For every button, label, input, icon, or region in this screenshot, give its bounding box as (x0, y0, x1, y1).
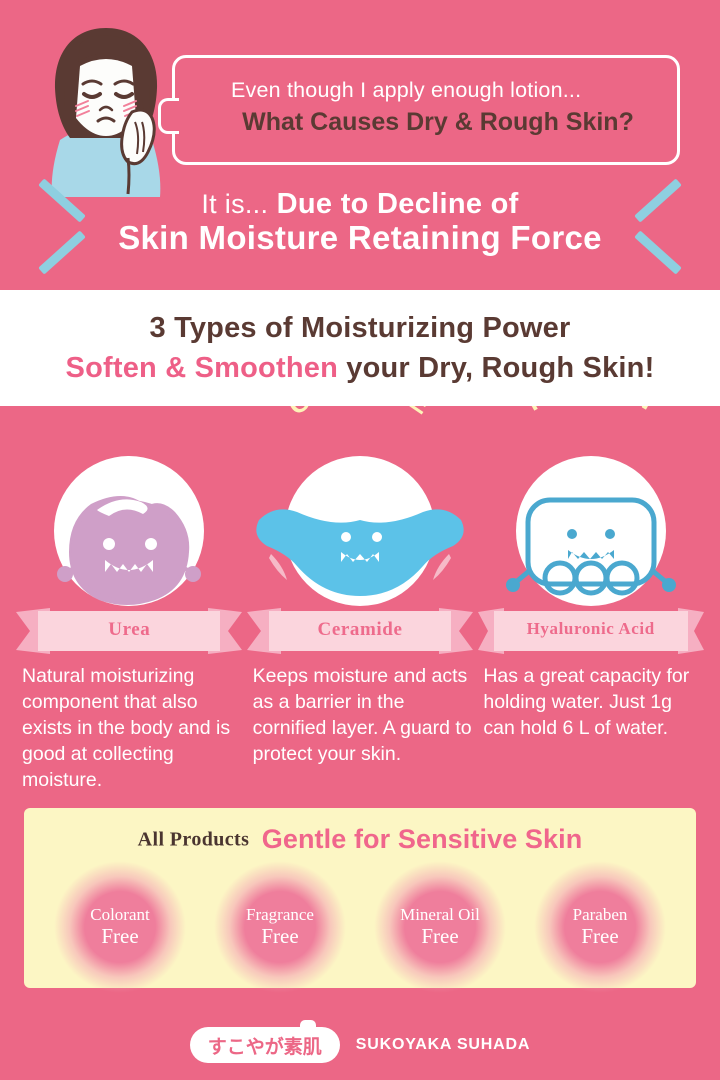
ingredient-card-hyaluronic-acid[interactable]: HYALON (475, 406, 706, 794)
free-badge-fragrance[interactable]: Fragrance Free (212, 867, 348, 987)
brand-logo-pill[interactable]: すこやが素肌 (190, 1027, 340, 1063)
ribbon-label: Urea (14, 619, 245, 641)
ribbon-hyaluronic-acid: Hyaluronic Acid (475, 608, 706, 654)
arc-text: HYALON (521, 406, 661, 417)
mascot-ceramide (245, 454, 476, 626)
moisturizing-power-band: 3 Types of Moisturizing Power Soften & S… (0, 290, 720, 406)
badge-free: Free (400, 925, 480, 948)
band-accent-text: Soften & Smoothen (66, 352, 338, 384)
band-line-2: Soften & Smoothen your Dry, Rough Skin! (66, 352, 655, 385)
speech-bubble: Even though I apply enough lotion... Wha… (172, 55, 680, 165)
badge-name: Mineral Oil (400, 906, 480, 925)
ingredient-card-urea[interactable]: UREAN Urea (14, 406, 245, 794)
ribbon-label: Ceramide (245, 619, 476, 641)
arc-text: CERAMIE (282, 406, 437, 421)
brand-logo-en: SUKOYAKA SUHADA (356, 1036, 530, 1054)
arc-label-urean: UREAN (14, 406, 245, 454)
sensitive-skin-panel: All Products Gentle for Sensitive Skin C… (24, 808, 696, 988)
hero-section: Even though I apply enough lotion... Wha… (0, 0, 720, 290)
free-badge-mineral-oil[interactable]: Mineral Oil Free (372, 867, 508, 987)
mascot-hyaluronic (475, 454, 706, 626)
worried-woman-illustration (36, 22, 176, 197)
panel-title-small: All Products (138, 829, 250, 851)
mascot-urea (14, 454, 245, 626)
ribbon-ceramide: Ceramide (245, 608, 476, 654)
ribbon-urea: Urea (14, 608, 245, 654)
panel-title: All Products Gentle for Sensitive Skin (24, 808, 696, 853)
ribbon-label: Hyaluronic Acid (475, 619, 706, 639)
svg-text:HYALON: HYALON (521, 406, 661, 417)
svg-text:UREAN: UREAN (69, 406, 190, 412)
bubble-line-2: What Causes Dry & Rough Skin? (205, 106, 655, 139)
svg-text:CERAMIE: CERAMIE (282, 406, 437, 421)
free-badge-colorant[interactable]: Colorant Free (52, 867, 188, 987)
ingredient-card-ceramide[interactable]: CERAMIE Ceramide Keeps moisture and acts… (245, 406, 476, 794)
arc-label-hyalon: HYALON (475, 406, 706, 454)
badge-name: Paraben (573, 906, 628, 925)
headline-lead: It is... (201, 189, 268, 219)
headline-line-2: Skin Moisture Retaining Force (0, 220, 720, 257)
badge-free: Free (90, 925, 150, 948)
badge-name: Fragrance (246, 906, 314, 925)
headline-line-1: Due to Decline of (277, 188, 519, 220)
badge-name: Colorant (90, 906, 150, 925)
panel-title-big: Gentle for Sensitive Skin (262, 824, 583, 854)
ingredient-description: Has a great capacity for holding water. … (475, 654, 706, 742)
brand-logo-jp: すこやが素肌 (208, 1032, 322, 1059)
badge-free: Free (573, 925, 628, 948)
badge-free: Free (246, 925, 314, 948)
free-badge-paraben[interactable]: Paraben Free (532, 867, 668, 987)
hero-headline: It is... Due to Decline of Skin Moisture… (0, 188, 720, 257)
band-line-1: 3 Types of Moisturizing Power (150, 312, 571, 345)
arc-label-ceramie: CERAMIE (245, 406, 476, 454)
bubble-line-1: Even though I apply enough lotion... (205, 77, 655, 104)
footer-logo-bar: すこやが素肌 SUKOYAKA SUHADA (0, 1010, 720, 1080)
arc-text: UREAN (69, 406, 190, 412)
ingredient-description: Keeps moisture and acts as a barrier in … (245, 654, 476, 768)
free-badge-row: Colorant Free Fragrance Free Mineral Oil… (24, 853, 696, 987)
band-rest-text: your Dry, Rough Skin! (338, 352, 654, 384)
ingredient-cards: UREAN Urea (0, 406, 720, 794)
ingredient-description: Natural moisturizing component that also… (14, 654, 245, 794)
